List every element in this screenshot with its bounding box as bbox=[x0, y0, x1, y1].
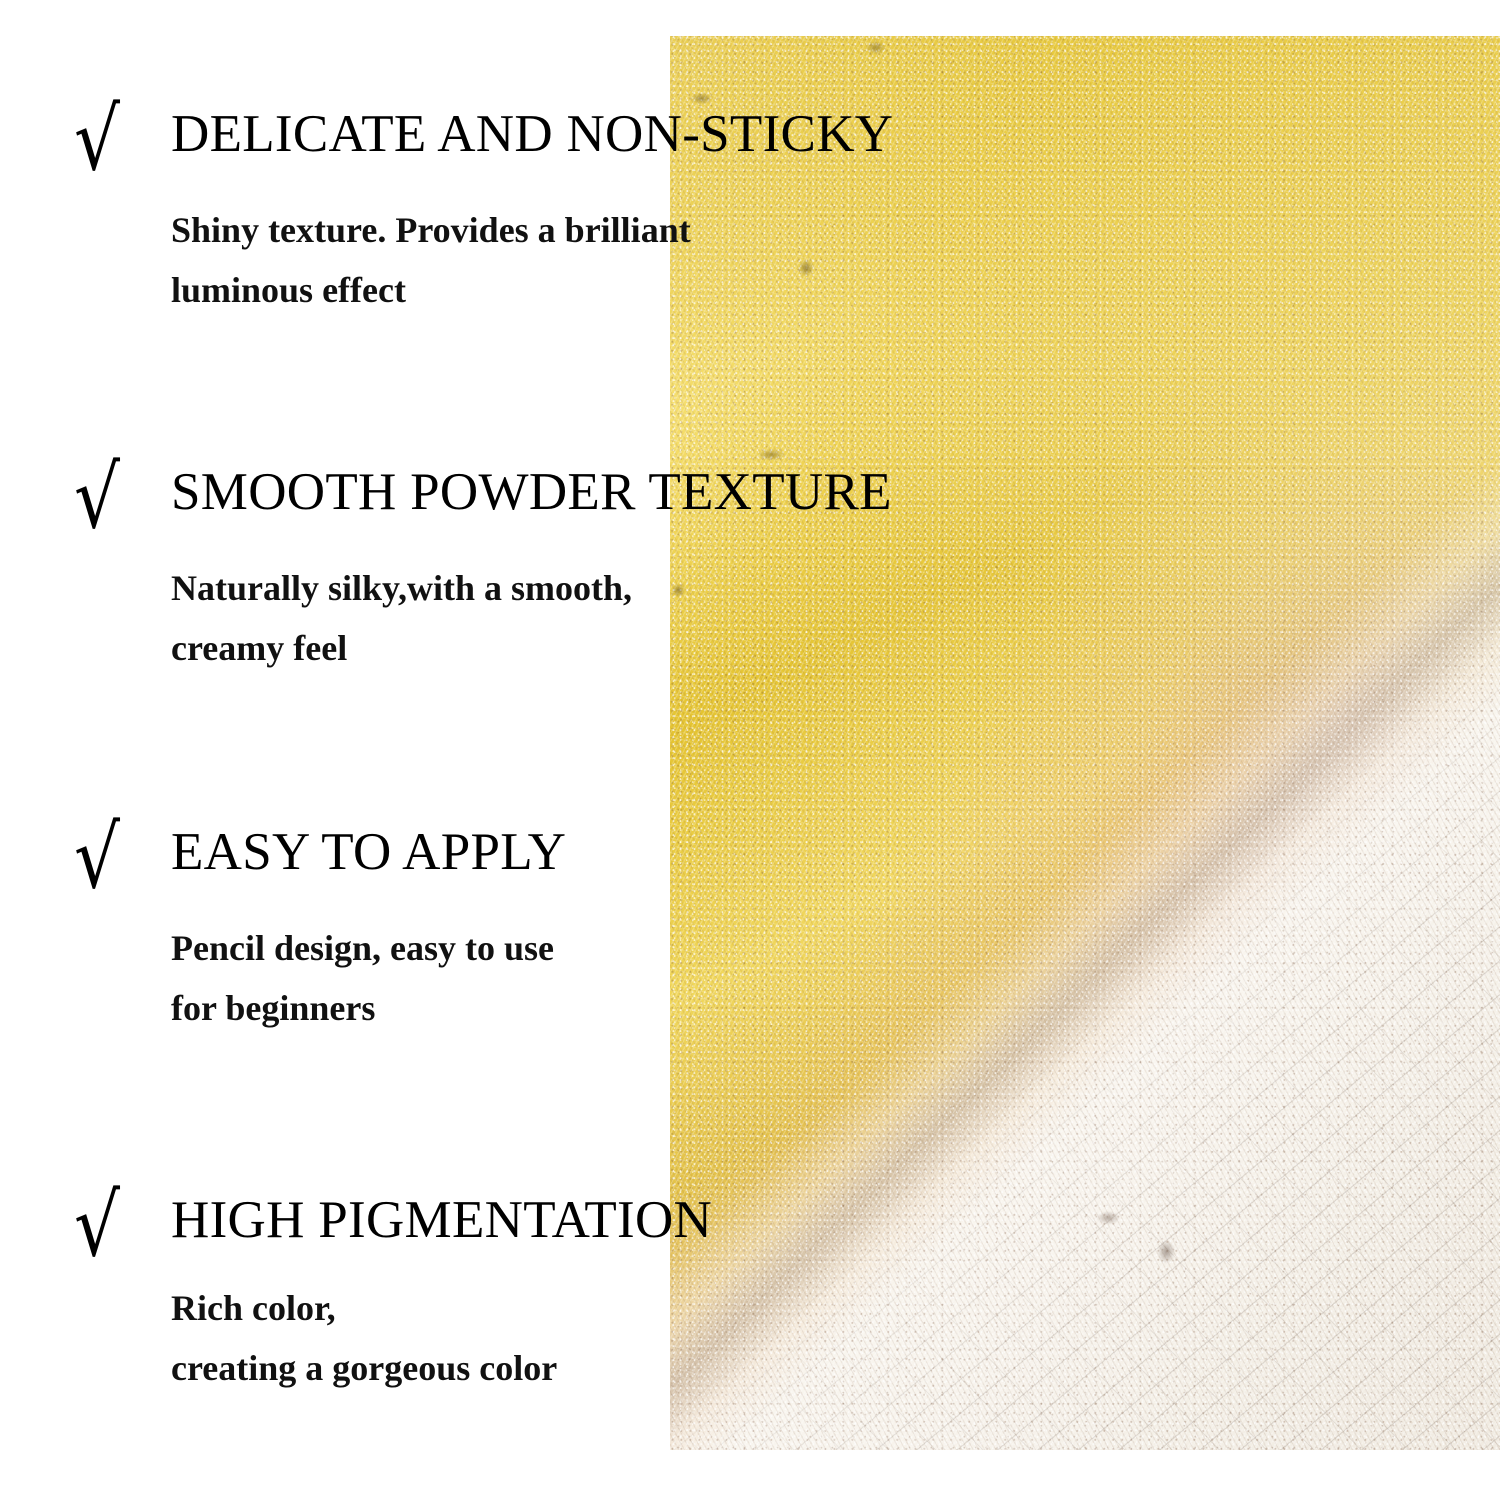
feature-list: √ DELICATE AND NON-STICKY Shiny texture.… bbox=[0, 0, 700, 1500]
check-mark-icon: √ bbox=[74, 1186, 133, 1270]
feature-heading-row: √ SMOOTH POWDER TEXTURE bbox=[0, 462, 700, 546]
check-mark-icon: √ bbox=[74, 100, 133, 184]
product-swatch-image bbox=[670, 36, 1500, 1450]
feature-title: HIGH PIGMENTATION bbox=[171, 1190, 712, 1250]
feature-item-smooth-powder-texture: √ SMOOTH POWDER TEXTURE Naturally silky,… bbox=[0, 462, 700, 546]
feature-heading-row: √ EASY TO APPLY bbox=[0, 822, 700, 906]
feature-heading-row: √ DELICATE AND NON-STICKY bbox=[0, 104, 700, 188]
feature-description-line-2: creamy feel bbox=[171, 618, 632, 678]
feature-item-high-pigmentation: √ HIGH PIGMENTATION Rich color, creating… bbox=[0, 1190, 700, 1274]
feature-title: EASY TO APPLY bbox=[171, 822, 566, 882]
feature-description: Shiny texture. Provides a brilliant lumi… bbox=[171, 200, 691, 320]
feature-title: SMOOTH POWDER TEXTURE bbox=[171, 462, 892, 522]
feature-description: Pencil design, easy to use for beginners bbox=[171, 918, 554, 1038]
swatch-sheen-layer bbox=[670, 36, 1500, 1450]
check-mark-icon: √ bbox=[74, 818, 133, 902]
check-mark-icon: √ bbox=[74, 458, 133, 542]
feature-heading-row: √ HIGH PIGMENTATION bbox=[0, 1190, 700, 1274]
feature-description: Rich color, creating a gorgeous color bbox=[171, 1278, 557, 1398]
feature-description-line-1: Naturally silky,with a smooth, bbox=[171, 558, 632, 618]
feature-description-line-2: luminous effect bbox=[171, 260, 691, 320]
feature-item-easy-to-apply: √ EASY TO APPLY Pencil design, easy to u… bbox=[0, 822, 700, 906]
feature-description-line-2: creating a gorgeous color bbox=[171, 1338, 557, 1398]
feature-description-line-1: Pencil design, easy to use bbox=[171, 918, 554, 978]
feature-description: Naturally silky,with a smooth, creamy fe… bbox=[171, 558, 632, 678]
feature-description-line-1: Shiny texture. Provides a brilliant bbox=[171, 200, 691, 260]
feature-item-delicate-and-non-sticky: √ DELICATE AND NON-STICKY Shiny texture.… bbox=[0, 104, 700, 188]
feature-description-line-1: Rich color, bbox=[171, 1278, 557, 1338]
feature-description-line-2: for beginners bbox=[171, 978, 554, 1038]
feature-title: DELICATE AND NON-STICKY bbox=[171, 104, 893, 164]
